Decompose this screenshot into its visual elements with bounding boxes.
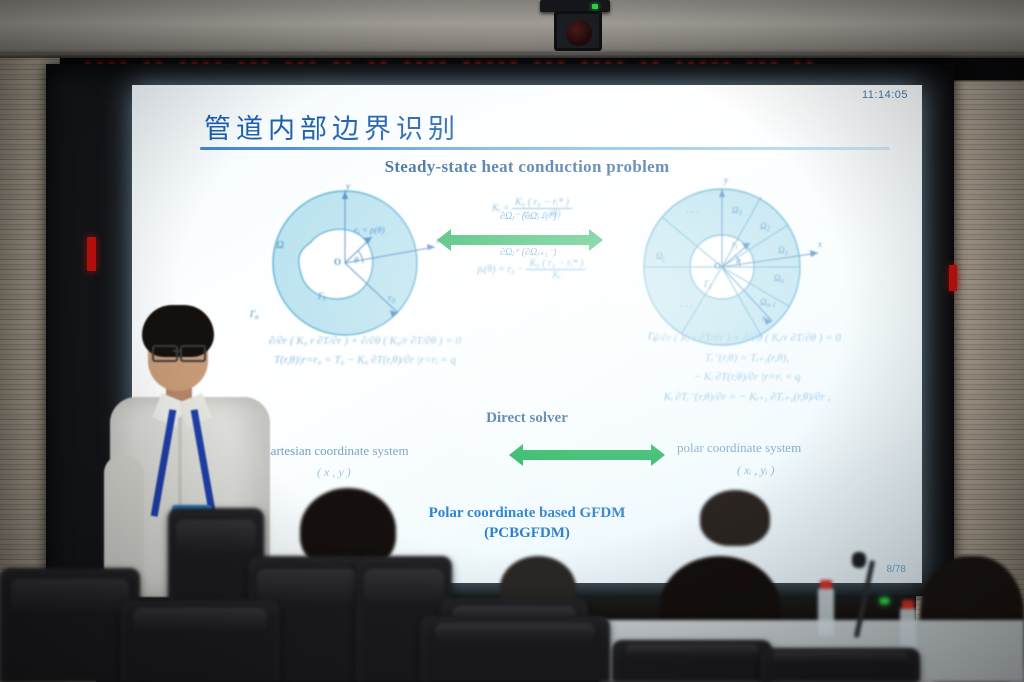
bottle-cap-icon <box>902 600 914 609</box>
projector-power-led-icon <box>592 4 598 9</box>
microphone-led-icon <box>880 598 889 604</box>
glasses-bridge-icon <box>173 350 181 352</box>
coordinate-transform-arrow-icon <box>522 450 652 460</box>
projector-lens-icon <box>566 20 592 46</box>
microphone-head-icon <box>852 552 866 568</box>
bottle-cap-icon <box>820 580 832 589</box>
title-underline <box>200 147 890 150</box>
equivalence-arrow-icon <box>450 235 590 245</box>
cartesian-coords: ( x , y ) <box>317 465 351 480</box>
slide-page-number: 8/78 <box>887 564 906 575</box>
indicator-light-right-icon <box>949 265 957 291</box>
slide-title: 管道内部边界识别 <box>204 107 460 146</box>
seat <box>0 568 140 682</box>
seat <box>612 640 772 682</box>
presenter-arm <box>104 455 144 585</box>
indicator-light-left-icon <box>87 237 96 271</box>
mapping-formulas: Kᵢ = K₀ ( r₀ − rᵢ* ) r₀ − ρᵢ(θ) ρᵢ(θ) = … <box>432 197 632 307</box>
water-bottle <box>818 588 834 636</box>
seat <box>420 616 610 682</box>
seat <box>760 648 920 682</box>
ceiling-projector <box>540 0 610 54</box>
pde-discrete: ∂/∂r ( Kᵢ r ∂T/∂r ) + ∂/∂θ ( Kᵢ/r ∂T/∂θ … <box>582 332 912 344</box>
equations-discretized: ∂/∂r ( Kᵢ r ∂T/∂r ) + ∂/∂θ ( Kᵢ/r ∂T/∂θ … <box>582 325 912 410</box>
glasses-right-lens-icon <box>180 345 206 362</box>
audience-head <box>700 490 770 546</box>
interface-continuity: Tᵢ⁻(r,θ) = Tᵢ₊₁(r,θ), <box>582 351 912 364</box>
glasses-left-lens-icon <box>152 345 178 362</box>
seat <box>120 600 280 682</box>
bc-discrete: − Kᵢ ∂T(r,θ)/∂r |r=rᵢ = q <box>582 371 912 383</box>
slide-subtitle: Steady-state heat conduction problem <box>132 157 922 177</box>
lecture-hall-scene: ▮▮▮▮ ▮▮ ▮▮▮▮ ▮▮▮ ▮▮▮ ▮▮ ▮▮ ▮▮▮▮ ▮▮▮▮▮ ▮▮… <box>0 0 1024 682</box>
formula-radius: ρᵢ(θ) = r₀ − K₀ ( r₀ − rᵢ* ) Kᵢ <box>432 258 632 281</box>
slide-clock: 11:14:05 <box>862 89 908 101</box>
formula-conductivity: Kᵢ = K₀ ( r₀ − rᵢ* ) r₀ − ρᵢ(θ) <box>432 197 632 220</box>
ceiling-trim <box>0 52 1024 55</box>
polar-coords: ( xᵢ , yᵢ ) <box>737 463 774 478</box>
ceiling <box>0 0 1024 58</box>
polar-label: polar coordinate system <box>677 440 801 456</box>
flux-continuity: Kᵢ ∂Tᵢ⁻(r,θ)/∂r = − Kᵢ₊₁ ∂Tᵢ₊₁(r,θ)/∂r , <box>582 390 912 403</box>
